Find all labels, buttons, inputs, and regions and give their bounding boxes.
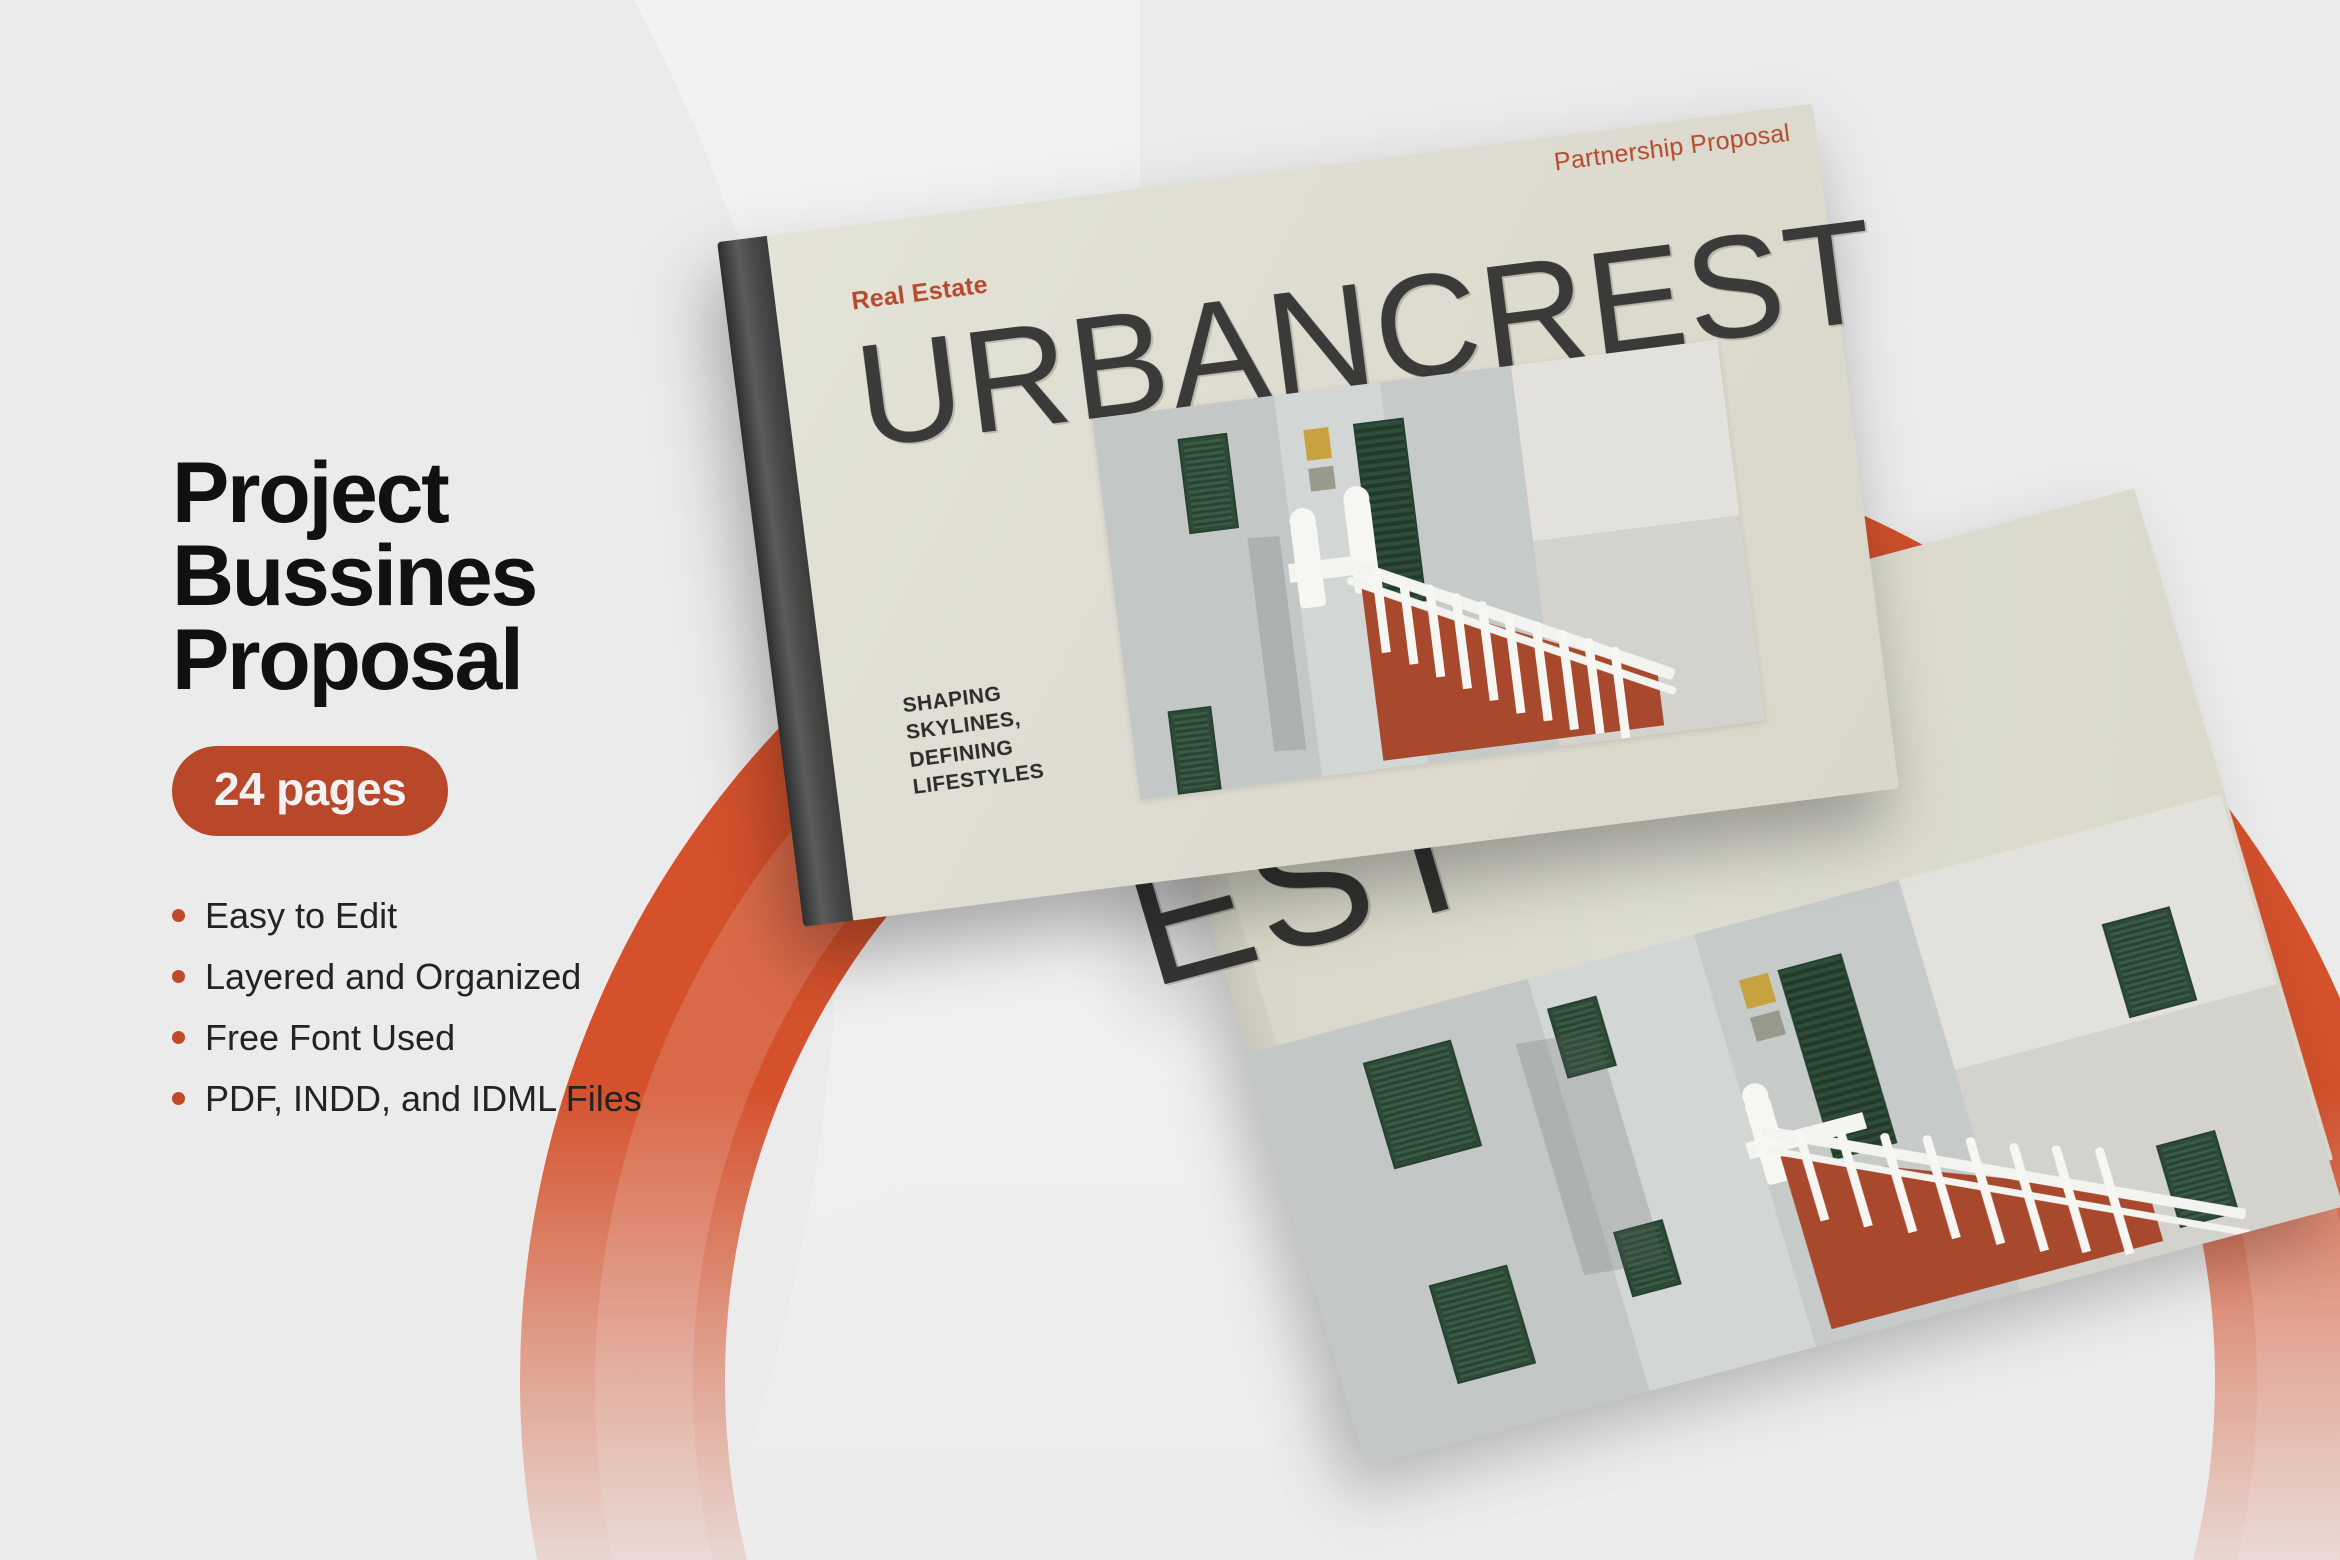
list-item: Layered and Organized: [172, 959, 692, 995]
feature-label: Layered and Organized: [205, 959, 581, 995]
list-item: Free Font Used: [172, 1020, 692, 1056]
bullet-dot-icon: [172, 970, 185, 983]
page-count-badge: 24 pages: [172, 746, 448, 836]
bullet-dot-icon: [172, 909, 185, 922]
brochure-front: Real Estate Partnership Proposal URBANCR…: [721, 104, 1899, 926]
feature-label: Easy to Edit: [205, 898, 397, 934]
page-title: Project Bussines Proposal: [172, 452, 692, 702]
feature-list: Easy to Edit Layered and Organized Free …: [172, 898, 692, 1117]
bullet-dot-icon: [172, 1092, 185, 1105]
brochure-tagline: SHAPING SKYLINES, DEFINING LIFESTYLES: [901, 676, 1046, 801]
headline-line-1: Project: [172, 452, 692, 535]
headline-line-3: Proposal: [172, 619, 692, 702]
brochure-front-cover: Real Estate Partnership Proposal URBANCR…: [767, 104, 1899, 921]
headline-line-2: Bussines: [172, 535, 692, 618]
feature-label: PDF, INDD, and IDML Files: [205, 1081, 642, 1117]
mockup-canvas: EST: [0, 0, 2340, 1560]
promo-copy: Project Bussines Proposal 24 pages Easy …: [172, 452, 692, 1142]
list-item: Easy to Edit: [172, 898, 692, 934]
list-item: PDF, INDD, and IDML Files: [172, 1081, 692, 1117]
feature-label: Free Font Used: [205, 1020, 455, 1056]
bullet-dot-icon: [172, 1031, 185, 1044]
brochure-front-photo: [1092, 340, 1765, 800]
